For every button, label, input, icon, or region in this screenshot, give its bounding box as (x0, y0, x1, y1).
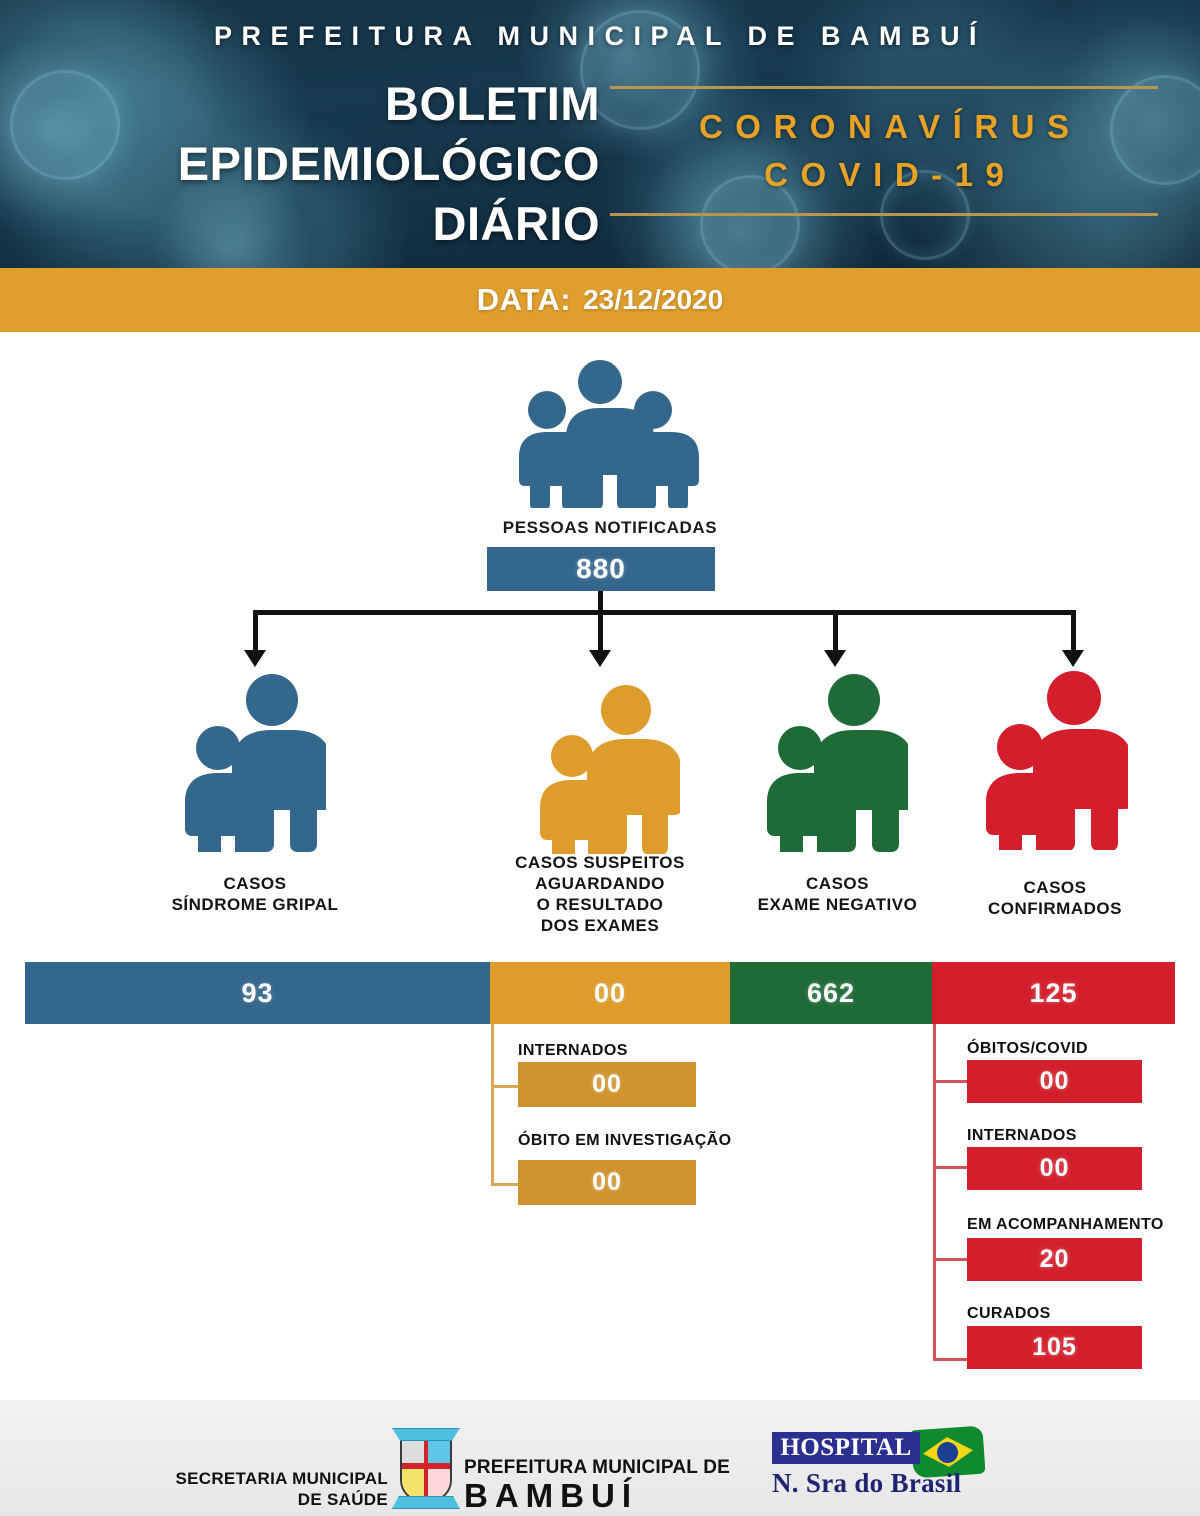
bambui-coat-of-arms-icon (392, 1424, 460, 1510)
value-suspeitos: 00 (594, 978, 626, 1009)
shield-quarter (426, 1466, 450, 1500)
sub-value-red-obitos-covid: 00 (1040, 1067, 1070, 1096)
connector-drop-2 (598, 610, 603, 653)
sub-box-red-curados: 105 (967, 1326, 1142, 1369)
label-line: CONFIRMADOS (925, 898, 1185, 919)
value-confirmados: 125 (1029, 978, 1077, 1009)
value-bar-suspeitos: 00 (490, 962, 730, 1024)
health-dept-line-2: DE SAÚDE (140, 1489, 388, 1510)
sub-label-red-curados: CURADOS (967, 1305, 1051, 1323)
branch-orange-trunk (491, 1024, 494, 1186)
sub-box-red-em-acompanhamento: 20 (967, 1238, 1142, 1281)
branch-red-3 (933, 1258, 970, 1261)
gold-rule-bottom (610, 213, 1158, 216)
sub-value-orange-internados: 00 (592, 1070, 622, 1099)
sub-value-orange-obito-investigacao: 00 (592, 1168, 622, 1197)
sub-label-orange-internados: INTERNADOS (518, 1042, 628, 1060)
shield-cross-horizontal (402, 1463, 450, 1468)
hospital-word: HOSPITAL (780, 1434, 911, 1462)
people-group-notified-icon (500, 358, 700, 508)
gold-rule-top (610, 86, 1158, 89)
sub-value-red-em-acompanhamento: 20 (1040, 1245, 1070, 1274)
people-group-suspeitos-icon (530, 684, 680, 854)
connector-drop-4 (1071, 610, 1076, 653)
subtitle-coronavirus: CORONAVÍRUS (610, 108, 1158, 146)
coat-of-arms-ribbon-top (392, 1428, 460, 1441)
sub-label-red-internados: INTERNADOS (967, 1127, 1077, 1145)
branch-red-trunk (933, 1024, 936, 1361)
root-value-box: 880 (487, 547, 715, 591)
connector-horizontal (255, 610, 1076, 615)
arrow-head-3-icon (824, 650, 846, 667)
sub-label-orange-obito-investigacao: ÓBITO EM INVESTIGAÇÃO (518, 1132, 731, 1150)
value-exame-negativo: 662 (807, 978, 855, 1009)
category-label-confirmados: CASOS CONFIRMADOS (925, 877, 1185, 919)
date-label: DATA: (477, 282, 571, 318)
title-line-1: BOLETIM (24, 74, 600, 134)
connector-drop-3 (833, 610, 838, 653)
arrow-head-1-icon (244, 650, 266, 667)
sub-value-red-internados: 00 (1040, 1154, 1070, 1183)
label-line: CASOS SUSPEITOS (455, 852, 745, 873)
label-line: CASOS (95, 873, 415, 894)
hospital-name: N. Sra do Brasil (772, 1468, 1008, 1499)
subtitle-block: CORONAVÍRUS COVID-19 (610, 86, 1158, 216)
prefecture-line-1: PREFEITURA MUNICIPAL DE (464, 1458, 732, 1478)
sub-value-red-curados: 105 (1032, 1333, 1077, 1362)
subtitle-covid19: COVID-19 (610, 156, 1158, 194)
value-bar-exame-negativo: 662 (730, 962, 932, 1024)
sub-box-red-internados: 00 (967, 1147, 1142, 1190)
title-line-2: EPIDEMIOLÓGICO (24, 134, 600, 194)
page-title: BOLETIM EPIDEMIOLÓGICO DIÁRIO (24, 74, 600, 254)
people-group-sindrome-gripal-icon (176, 672, 326, 852)
sub-box-orange-obito-investigacao: 00 (518, 1160, 696, 1205)
label-line: SÍNDROME GRIPAL (95, 894, 415, 915)
header-banner: PREFEITURA MUNICIPAL DE BAMBUÍ BOLETIM E… (0, 0, 1200, 268)
arrow-head-4-icon (1062, 650, 1084, 667)
value-sindrome-gripal: 93 (241, 978, 273, 1009)
value-bar-sindrome-gripal: 93 (25, 962, 490, 1024)
arrow-head-2-icon (589, 650, 611, 667)
value-bar-confirmados: 125 (932, 962, 1175, 1024)
root-value: 880 (576, 553, 626, 585)
hospital-word-box: HOSPITAL (772, 1432, 920, 1464)
date-bar: DATA: 23/12/2020 (0, 268, 1200, 332)
prefecture-logo-text: PREFEITURA MUNICIPAL DE BAMBUÍ (464, 1458, 732, 1514)
root-caption: PESSOAS NOTIFICADAS (430, 518, 790, 538)
sub-label-red-obitos-covid: ÓBITOS/COVID (967, 1040, 1088, 1058)
people-group-exame-negativo-icon (758, 672, 908, 852)
sub-label-red-em-acompanhamento: EM ACOMPANHAMENTO (967, 1216, 1164, 1234)
municipality-header: PREFEITURA MUNICIPAL DE BAMBUÍ (0, 21, 1200, 52)
people-group-confirmados-icon (978, 670, 1128, 850)
connector-drop-1 (253, 610, 258, 653)
title-line-3: DIÁRIO (24, 194, 600, 254)
branch-red-1 (933, 1080, 970, 1083)
sub-box-red-obitos-covid: 00 (967, 1060, 1142, 1103)
health-dept-line-1: SECRETARIA MUNICIPAL (140, 1468, 388, 1489)
branch-red-4 (933, 1358, 970, 1361)
shield-quarter (402, 1466, 426, 1500)
hospital-logo: HOSPITAL N. Sra do Brasil (772, 1428, 1008, 1508)
coat-of-arms-ribbon-bottom (392, 1496, 460, 1509)
health-department-label: SECRETARIA MUNICIPAL DE SAÚDE (140, 1468, 388, 1510)
sub-box-orange-internados: 00 (518, 1062, 696, 1107)
prefecture-line-2: BAMBUÍ (464, 1478, 732, 1514)
label-line: DOS EXAMES (455, 915, 745, 936)
category-label-sindrome-gripal: CASOS SÍNDROME GRIPAL (95, 873, 415, 915)
branch-red-2 (933, 1166, 970, 1169)
label-line: CASOS (925, 877, 1185, 898)
date-value: 23/12/2020 (583, 284, 723, 316)
